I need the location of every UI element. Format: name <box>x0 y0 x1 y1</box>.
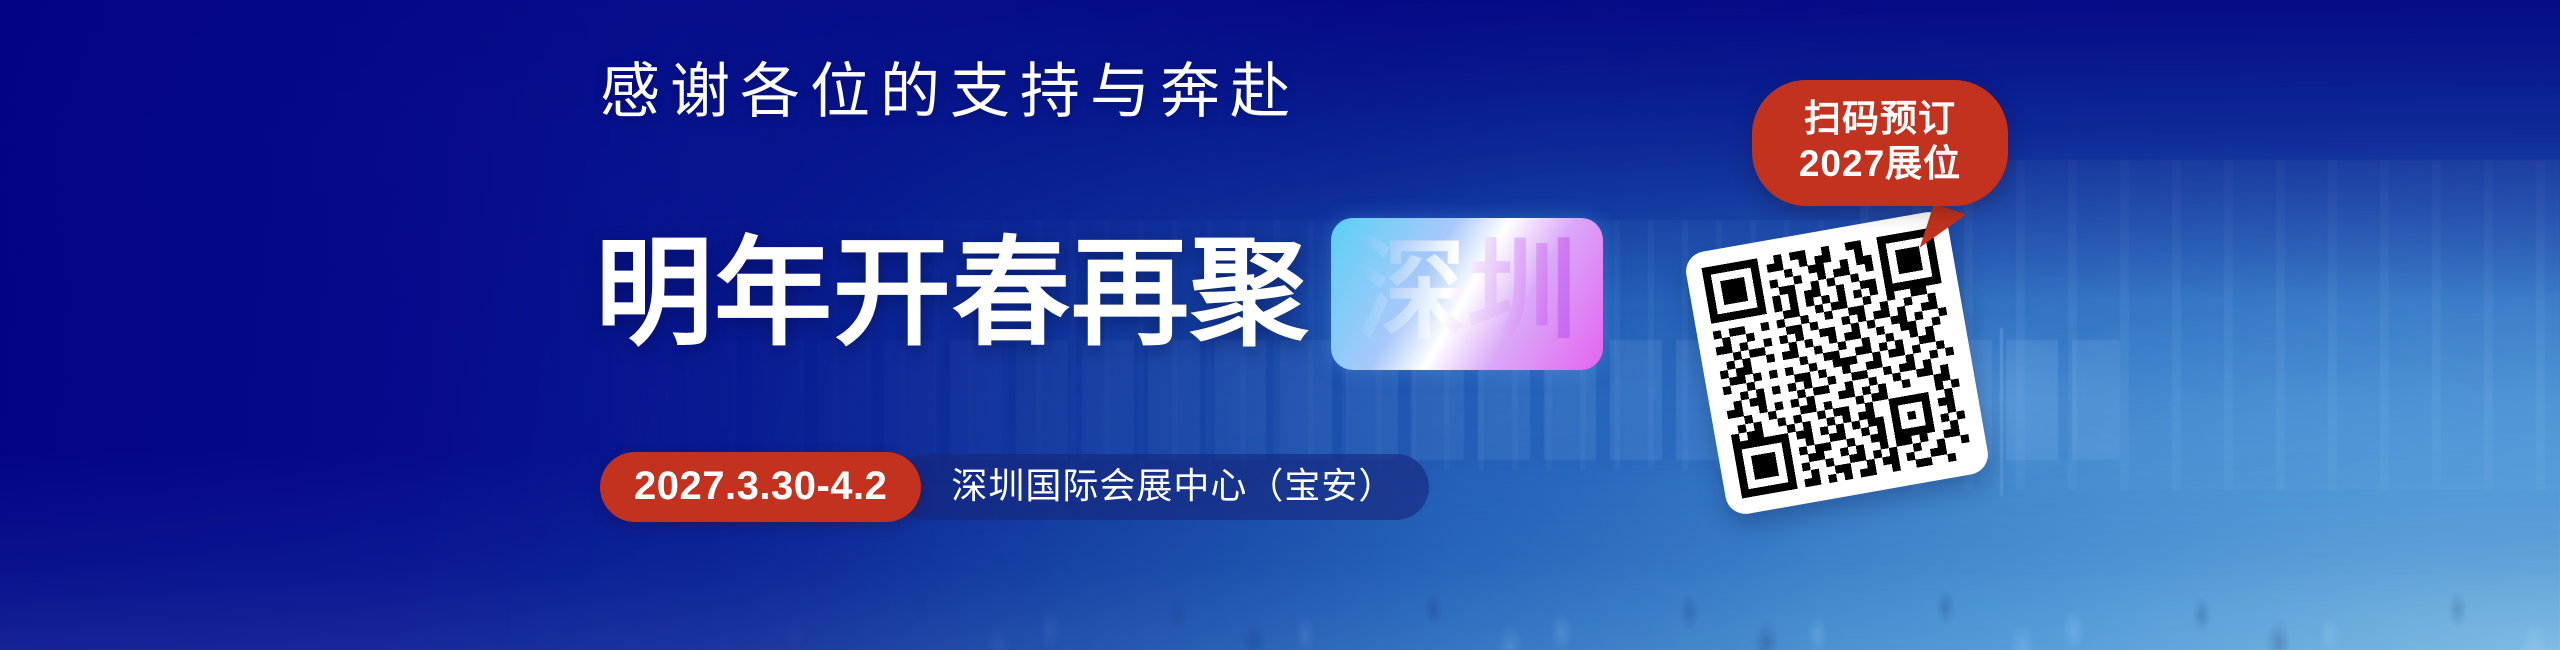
kicker-text: 感谢各位的支持与奔赴 <box>600 62 1300 122</box>
event-venue-badge: 深圳国际会展中心（宝安） <box>893 454 1429 520</box>
city-badge: 深圳 <box>1331 218 1603 370</box>
qr-code-icon <box>1701 227 1972 498</box>
qr-callout-line1: 扫码预订 <box>1762 96 1998 141</box>
headline-row: 明年开春再聚 深圳 <box>595 218 1603 370</box>
qr-booking-block[interactable]: 扫码预订 2027展位 <box>1690 80 2110 560</box>
event-date-badge: 2027.3.30-4.2 <box>600 452 921 522</box>
event-info-row: 2027.3.30-4.2 深圳国际会展中心（宝安） <box>600 452 1429 522</box>
event-promo-banner: 感谢各位的支持与奔赴 明年开春再聚 深圳 2027.3.30-4.2 深圳国际会… <box>0 0 2560 650</box>
qr-callout-bubble: 扫码预订 2027展位 <box>1752 80 2008 206</box>
headline-main-text: 明年开春再聚 <box>595 235 1309 353</box>
city-badge-label: 深圳 <box>1356 237 1578 347</box>
qr-callout-line2: 2027展位 <box>1762 141 1998 186</box>
